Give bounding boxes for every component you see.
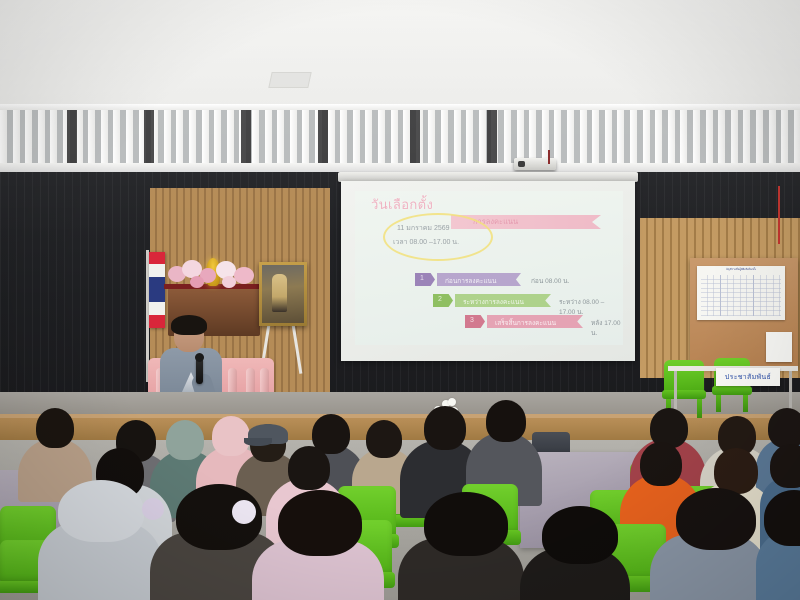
baluster	[781, 110, 788, 163]
baluster	[214, 110, 221, 163]
slide-step-2: 2 ระหว่างการลงคะแนน ระหว่าง 08.00 – 17.0…	[433, 294, 613, 307]
audience-head	[288, 446, 330, 490]
baluster	[126, 110, 133, 163]
railing-shadow	[318, 110, 328, 163]
audience-head	[486, 400, 526, 442]
audience-head	[714, 448, 758, 494]
baluster	[328, 110, 335, 163]
baluster	[592, 110, 599, 163]
cap-brim	[244, 438, 272, 446]
step-3-time: หลัง 17.00 น.	[591, 318, 623, 338]
railing-shadow	[410, 110, 420, 163]
voter-list-header: บัญชีรายชื่อผู้มีสิทธิเลือกตั้ง	[703, 268, 779, 272]
baluster	[13, 110, 20, 163]
baluster	[227, 110, 234, 163]
baluster	[353, 110, 360, 163]
baluster	[441, 110, 448, 163]
step-3-chevron	[465, 315, 485, 328]
projector-cable	[548, 150, 550, 164]
audience-head	[542, 506, 618, 564]
baluster	[0, 110, 7, 163]
slide-step-3: 3 เสร็จสิ้นการลงคะแนน หลัง 17.00 น.	[465, 315, 623, 328]
step-2-number: 2	[438, 296, 442, 303]
baluster	[693, 110, 700, 163]
baluster	[252, 110, 259, 163]
baluster	[731, 110, 738, 163]
baluster	[668, 110, 675, 163]
baluster	[38, 110, 45, 163]
notice-board: บัญชีรายชื่อผู้มีสิทธิเลือกตั้ง	[690, 258, 798, 368]
audience-head	[424, 406, 466, 450]
baluster	[340, 110, 347, 163]
audience-head	[676, 488, 756, 550]
baluster	[88, 110, 95, 163]
baluster	[403, 110, 410, 163]
baluster	[680, 110, 687, 163]
baluster	[529, 110, 536, 163]
balustrade-railing	[0, 104, 800, 172]
baluster	[265, 110, 272, 163]
slide-title: วันเลือกตั้ง	[371, 194, 433, 215]
slide-time: เวลา 08.00 –17.00 น.	[393, 237, 459, 248]
baluster	[479, 110, 486, 163]
voter-list-paper: บัญชีรายชื่อผู้มีสิทธิเลือกตั้ง	[697, 266, 785, 320]
altar-flowers	[166, 258, 264, 292]
baluster	[202, 110, 209, 163]
baluster	[378, 110, 385, 163]
railing-shadow	[144, 110, 154, 163]
railing-shadow	[67, 110, 77, 163]
audience-head	[212, 416, 250, 456]
step-2-chevron	[433, 294, 453, 307]
baluster	[567, 110, 574, 163]
baluster	[643, 110, 650, 163]
baluster	[164, 110, 171, 163]
audience-head	[424, 492, 508, 556]
announcement-sign-text: ประชาสัมพันธ์	[725, 372, 771, 383]
baluster	[428, 110, 435, 163]
step-2-time: ระหว่าง 08.00 – 17.00 น.	[559, 297, 613, 317]
screen-surface: วันเลือกตั้ง การลงคะแนน 11 มกราคม 2569 เ…	[341, 181, 635, 361]
slide-content: วันเลือกตั้ง การลงคะแนน 11 มกราคม 2569 เ…	[355, 191, 623, 345]
railing-shadow	[241, 110, 251, 163]
baluster	[290, 110, 297, 163]
baluster	[718, 110, 725, 163]
baluster	[630, 110, 637, 163]
baluster	[756, 110, 763, 163]
audience-head	[770, 444, 800, 488]
baluster	[504, 110, 511, 163]
railing-shadow	[487, 110, 497, 163]
thai-flag	[149, 252, 165, 328]
projector-lens	[518, 161, 525, 167]
baluster	[706, 110, 713, 163]
baluster	[605, 110, 612, 163]
step-1-chevron	[415, 273, 435, 286]
baluster	[365, 110, 372, 163]
audience-head	[36, 408, 74, 448]
step-1-number: 1	[420, 275, 424, 282]
baluster	[25, 110, 32, 163]
baluster	[466, 110, 473, 163]
audience-head	[366, 420, 402, 458]
baluster	[769, 110, 776, 163]
slide-date: 11 มกราคม 2569	[397, 223, 450, 234]
baluster	[743, 110, 750, 163]
secondary-paper	[766, 332, 792, 362]
red-cord	[778, 186, 780, 244]
projection-screen: วันเลือกตั้ง การลงคะแนน 11 มกราคม 2569 เ…	[338, 172, 638, 364]
audience-head	[640, 442, 682, 486]
slide-step-1: 1 ก่อนการลงคะแนน ก่อน 08.00 น.	[415, 273, 575, 286]
step-1-time: ก่อน 08.00 น.	[531, 276, 569, 286]
audience-head	[58, 480, 144, 542]
baluster	[101, 110, 108, 163]
baluster	[277, 110, 284, 163]
step-2-label: ระหว่างการลงคะแนน	[463, 297, 524, 307]
baluster	[517, 110, 524, 163]
baluster	[113, 110, 120, 163]
announcement-sign: ประชาสัมพันธ์	[716, 368, 780, 386]
audience-head	[768, 408, 800, 448]
baluster	[554, 110, 561, 163]
baluster	[580, 110, 587, 163]
baluster	[655, 110, 662, 163]
audience-head	[278, 490, 362, 556]
baluster	[794, 110, 800, 163]
photo-scene: บัญชีรายชื่อผู้มีสิทธิเลือกตั้ง วันเลือก…	[0, 0, 800, 600]
hair-scrunchie	[142, 498, 164, 520]
step-1-label: ก่อนการลงคะแนน	[445, 276, 496, 286]
baluster	[391, 110, 398, 163]
hair-scrunchie	[232, 500, 256, 524]
baluster	[617, 110, 624, 163]
step-3-number: 3	[470, 317, 474, 324]
royal-portrait	[259, 262, 307, 326]
baluster	[454, 110, 461, 163]
step-3-label: เสร็จสิ้นการลงคะแนน	[495, 318, 556, 328]
baluster	[189, 110, 196, 163]
baluster	[50, 110, 57, 163]
microphone	[196, 358, 203, 384]
audience-head-scarf	[166, 420, 204, 460]
baluster	[176, 110, 183, 163]
baluster	[302, 110, 309, 163]
